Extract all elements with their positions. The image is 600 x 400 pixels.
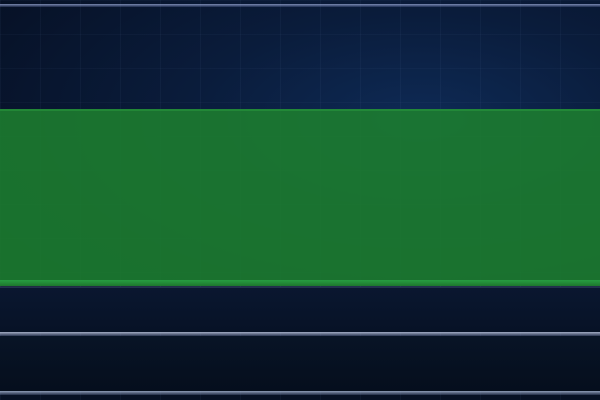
- divider-oscillator: [0, 286, 600, 288]
- divider-top: [0, 4, 600, 7]
- divider-bottom: [0, 391, 600, 395]
- green-band-bottom-edge: [0, 280, 600, 286]
- divider-middle: [0, 332, 600, 336]
- screenshot-canvas: [0, 0, 600, 400]
- green-band-top-edge: [0, 109, 600, 111]
- green-overlay-band: [0, 109, 600, 286]
